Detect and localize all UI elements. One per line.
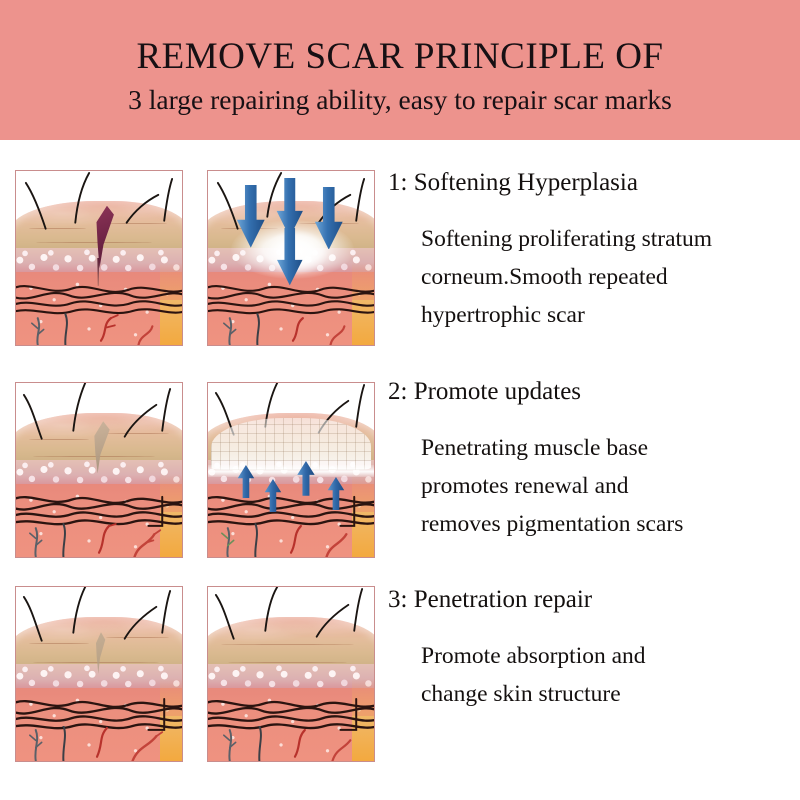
step-1-body-line: Softening proliferating stratum <box>421 220 796 258</box>
skin-cross-section <box>208 171 374 345</box>
step-1: 1: Softening Hyperplasia Softening proli… <box>388 168 796 334</box>
down-arrow-icon <box>313 187 345 250</box>
deep-vessels-and-nerves <box>208 726 374 761</box>
panel-1-after <box>207 170 375 346</box>
down-arrow-icon <box>235 185 267 248</box>
panel-3-before <box>15 586 183 762</box>
step-3-heading: 3: Penetration repair <box>388 585 796 615</box>
panel-2-after <box>207 382 375 558</box>
step-2: 2: Promote updates Penetrating muscle ba… <box>388 377 796 543</box>
step-2-body-line: removes pigmentation scars <box>421 505 796 543</box>
page-title: REMOVE SCAR PRINCIPLE OF <box>136 35 663 79</box>
deep-vessels-and-nerves <box>16 522 182 557</box>
page-subtitle: 3 large repairing ability, easy to repai… <box>128 81 672 119</box>
step-2-body-line: promotes renewal and <box>421 467 796 505</box>
up-arrow-icon <box>326 477 346 510</box>
step-2-body: Penetrating muscle base promotes renewal… <box>421 429 796 543</box>
step-2-heading: 2: Promote updates <box>388 377 796 407</box>
deep-vessels-and-nerves <box>208 522 374 557</box>
step-1-body-line: hypertrophic scar <box>421 296 796 334</box>
step-3: 3: Penetration repair Promote absorption… <box>388 585 796 713</box>
panel-2-before <box>15 382 183 558</box>
hair-shafts <box>16 587 182 684</box>
up-arrow-icon <box>263 479 283 512</box>
panel-3-after <box>207 586 375 762</box>
deep-vessels-and-nerves <box>16 310 182 345</box>
header-banner: REMOVE SCAR PRINCIPLE OF 3 large repairi… <box>0 0 800 140</box>
step-3-body-line: change skin structure <box>421 675 796 713</box>
skin-cross-section <box>16 383 182 557</box>
skin-cross-section <box>208 587 374 761</box>
step-1-body: Softening proliferating stratum corneum.… <box>421 220 796 334</box>
step-1-body-line: corneum.Smooth repeated <box>421 258 796 296</box>
up-arrow-icon <box>296 461 316 496</box>
up-arrow-icon <box>236 465 256 498</box>
step-3-body: Promote absorption and change skin struc… <box>421 637 796 713</box>
hair-shafts <box>208 587 374 684</box>
skin-cross-section <box>16 587 182 761</box>
deep-vessels-and-nerves <box>16 726 182 761</box>
step-3-body-line: Promote absorption and <box>421 637 796 675</box>
panel-1-before <box>15 170 183 346</box>
skin-cross-section <box>208 383 374 557</box>
step-2-body-line: Penetrating muscle base <box>421 429 796 467</box>
down-arrow-icon <box>274 228 306 285</box>
infographic-page: REMOVE SCAR PRINCIPLE OF 3 large repairi… <box>0 0 800 800</box>
skin-cross-section <box>16 171 182 345</box>
hair-shafts <box>208 383 374 480</box>
step-1-heading: 1: Softening Hyperplasia <box>388 168 796 198</box>
deep-vessels-and-nerves <box>208 310 374 345</box>
hair-shafts <box>16 383 182 480</box>
hair-shafts <box>16 171 182 268</box>
